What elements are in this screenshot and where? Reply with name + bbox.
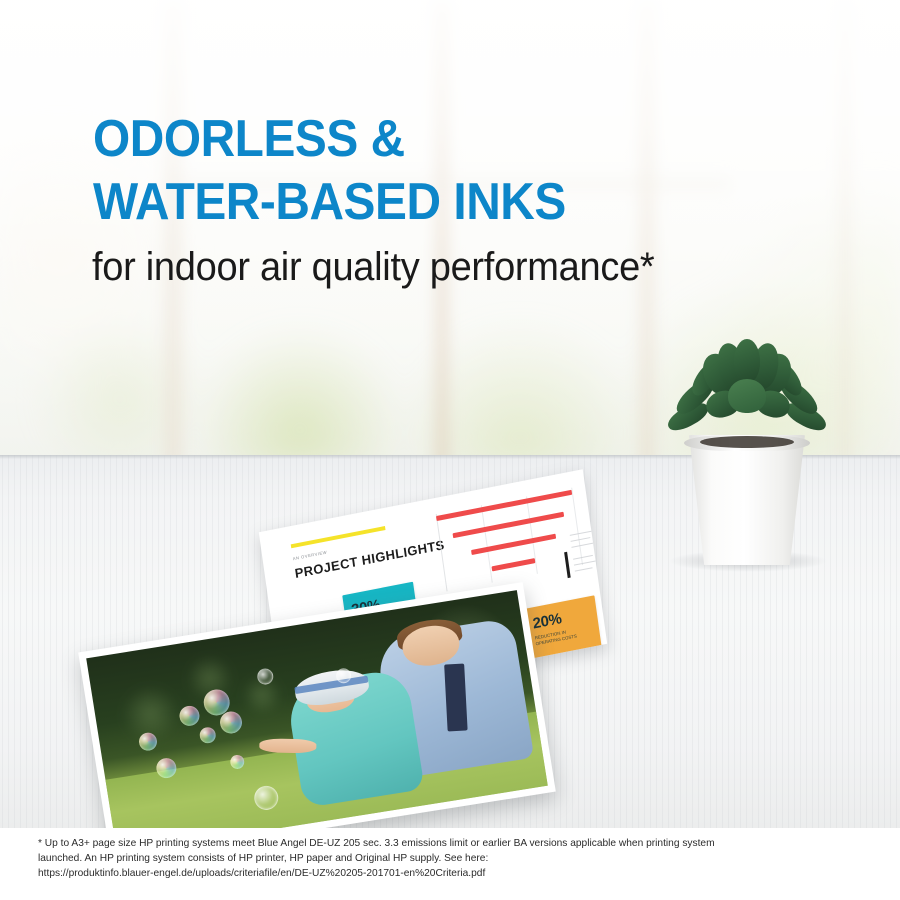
photo-bubble: [219, 710, 244, 735]
chart-bar: [471, 534, 556, 555]
stat-value: 20%: [532, 610, 563, 632]
chart-bar: [491, 558, 535, 571]
photo-child-arm: [259, 738, 316, 753]
footnote-line-1: * Up to A3+ page size HP printing system…: [38, 836, 841, 851]
headline: ODORLESS & WATER-BASED INKS: [93, 108, 792, 234]
photo-adult-tie: [444, 664, 467, 732]
plant-pot: [684, 435, 810, 565]
chart-gridline: [571, 488, 583, 566]
headline-line-1: ODORLESS &: [93, 110, 405, 168]
subheadline: for indoor air quality performance*: [92, 243, 843, 291]
chart-gridline: [481, 505, 493, 583]
plant-leaf: [734, 339, 760, 383]
photo-bubble: [178, 705, 201, 728]
footnote-url: https://produktinfo.blauer-engel.de/uplo…: [38, 866, 841, 881]
potted-plant: [660, 335, 840, 575]
plant-leaf: [728, 379, 766, 413]
headline-line-2: WATER-BASED INKS: [93, 171, 792, 234]
marketing-poster: AN OVERVIEW PROJECT HIGHLIGHTS: [0, 0, 900, 900]
brochure-text-line: [575, 567, 593, 571]
footnote: * Up to A3+ page size HP printing system…: [38, 836, 841, 881]
plant-soil: [700, 436, 794, 448]
photo-bubble: [199, 726, 217, 744]
brochure-bar-chart: [435, 485, 584, 591]
footnote-line-2: launched. An HP printing system consists…: [38, 851, 841, 866]
